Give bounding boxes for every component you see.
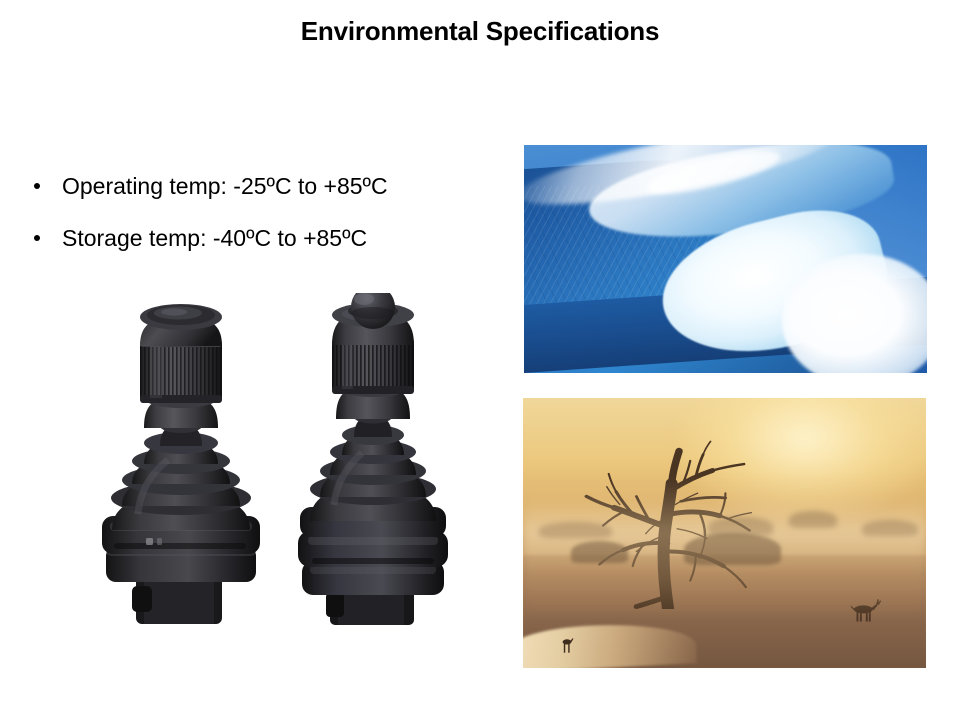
antelope-silhouette <box>848 599 882 625</box>
page-title: Environmental Specifications <box>0 16 960 47</box>
desert-tree-silhouette <box>579 430 764 608</box>
ocean-wave-photo <box>524 145 927 373</box>
antelope-silhouette <box>559 635 575 655</box>
bullet-point-icon <box>34 183 40 189</box>
list-item-label: Operating temp: -25ºC to +85ºC <box>62 173 388 199</box>
list-item: Operating temp: -25ºC to +85ºC <box>30 160 530 212</box>
joystick-right-photo <box>288 293 458 625</box>
list-item: Storage temp: -40ºC to +85ºC <box>30 212 530 264</box>
dust-storm-desert-photo <box>523 398 926 668</box>
list-item-label: Storage temp: -40ºC to +85ºC <box>62 225 367 251</box>
joystick-left-photo <box>88 300 274 625</box>
bullet-list: Operating temp: -25ºC to +85ºC Storage t… <box>30 160 530 264</box>
desert-far-bush <box>789 511 837 527</box>
bullet-point-icon <box>34 235 40 241</box>
desert-far-bush <box>862 520 918 536</box>
slide-canvas: Environmental Specifications Operating t… <box>0 0 960 720</box>
